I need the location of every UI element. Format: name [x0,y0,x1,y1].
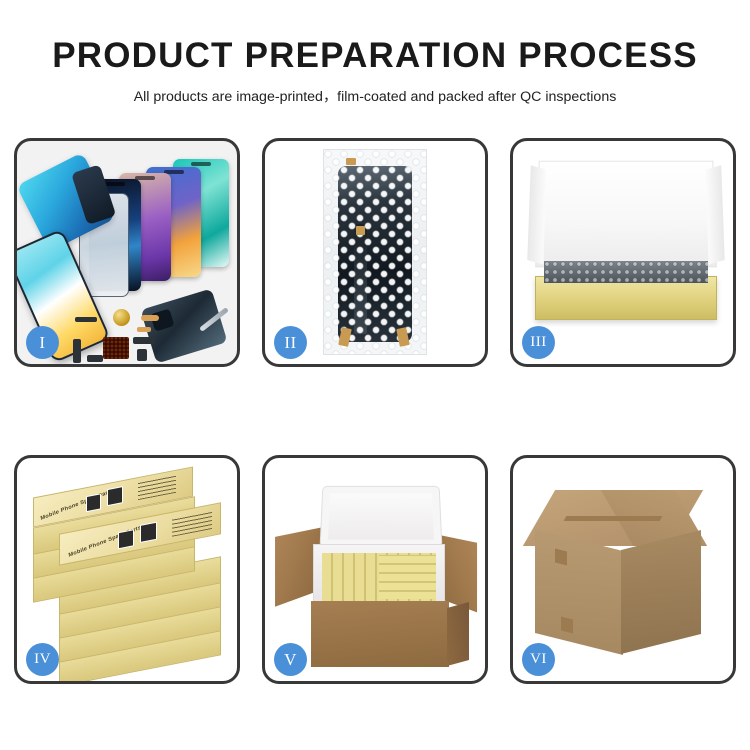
bubble-wrap-contents [544,261,708,283]
process-panel-6: VI [510,455,736,684]
foam-lid [320,486,443,548]
part-flex-tan-2 [137,327,151,332]
part-flex-tan [141,315,159,321]
process-panel-1: I [14,138,240,367]
yellow-boxes-row-2 [379,555,436,599]
process-panel-2: II [262,138,488,367]
tape-piece-top [346,158,356,165]
process-panel-5: V [262,455,488,684]
seal-tape-front-lower [561,617,573,634]
process-panel-grid: I II III [14,138,736,684]
carton-side-face [621,530,701,654]
camera-ring-part [113,309,130,326]
step-badge-6: VI [522,643,555,676]
notch-icon [191,162,211,166]
process-panel-3: III [510,138,736,367]
box-window-b [140,522,157,543]
step-badge-1: I [26,326,59,359]
notch-icon [105,182,125,186]
process-panel-4: Mobile Phone Spare Parts Mobile Phone Sp… [14,455,240,684]
box-lid-white [535,161,717,268]
carton-front-face [535,529,623,655]
part-block [87,355,103,362]
box-stack: Mobile Phone Spare Parts Mobile Phone Sp… [25,474,235,674]
part-speaker [109,365,122,367]
part-strip [75,317,97,322]
copper-contact-grid [103,337,129,359]
foam-container [313,544,445,608]
page-subtitle: All products are image-printed，film-coat… [0,86,750,106]
box-window-d [107,486,123,506]
step-badge-3: III [522,326,555,359]
header: PRODUCT PREPARATION PROCESS All products… [0,0,750,106]
step-badge-5: V [274,643,307,676]
box-tray-yellow [535,276,717,320]
box-spec-text [172,510,212,537]
seal-tape-front-upper [555,549,567,566]
part-chip [137,349,147,361]
part-cable [73,339,81,363]
box-spec-text-2 [138,475,176,500]
box-window-a [118,529,134,549]
step-badge-2: II [274,326,307,359]
page-title: PRODUCT PREPARATION PROCESS [0,38,750,75]
box-window-c [86,493,101,512]
part-bar [133,337,155,344]
seal-tape-top [564,516,663,521]
carton-body [311,601,449,667]
bubble-wrap-bag [323,149,427,355]
bubble-texture [324,150,426,354]
step-badge-4: IV [26,643,59,676]
tape-piece-mid [356,226,365,235]
phone-backplate [140,288,227,363]
